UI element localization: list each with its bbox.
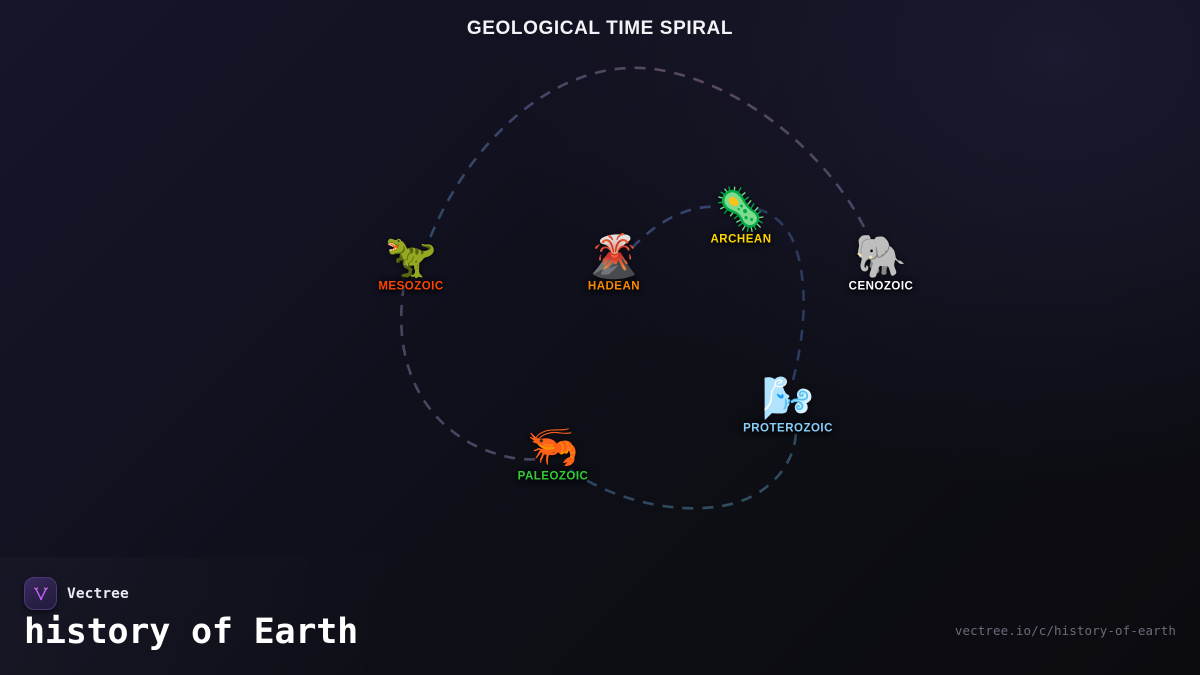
- shrimp-icon: 🦐: [468, 424, 638, 470]
- wind-face-icon: 🌬️: [703, 376, 873, 422]
- spiral-diagram-canvas: [0, 0, 1200, 675]
- node-proterozoic[interactable]: 🌬️ PROTEROZOIC: [703, 376, 873, 435]
- node-mesozoic[interactable]: 🦖 MESOZOIC: [326, 234, 496, 293]
- vectree-mark: [31, 584, 51, 604]
- node-label-cenozoic: CENOZOIC: [796, 281, 966, 293]
- headline: history of Earth: [24, 611, 358, 653]
- node-label-hadean: HADEAN: [529, 281, 699, 293]
- elephant-icon: 🐘: [796, 234, 966, 280]
- brand-name: Vectree: [67, 586, 129, 602]
- node-label-mesozoic: MESOZOIC: [326, 281, 496, 293]
- share-url: vectree.io/c/history-of-earth: [955, 623, 1176, 638]
- node-paleozoic[interactable]: 🦐 PALEOZOIC: [468, 424, 638, 483]
- vectree-logo-icon[interactable]: [24, 577, 57, 610]
- t-rex-icon: 🦖: [326, 234, 496, 280]
- brand-row[interactable]: Vectree: [24, 577, 129, 610]
- node-label-proterozoic: PROTEROZOIC: [703, 423, 873, 435]
- node-label-paleozoic: PALEOZOIC: [468, 471, 638, 483]
- node-cenozoic[interactable]: 🐘 CENOZOIC: [796, 234, 966, 293]
- microbe-icon: 🦠: [656, 187, 826, 233]
